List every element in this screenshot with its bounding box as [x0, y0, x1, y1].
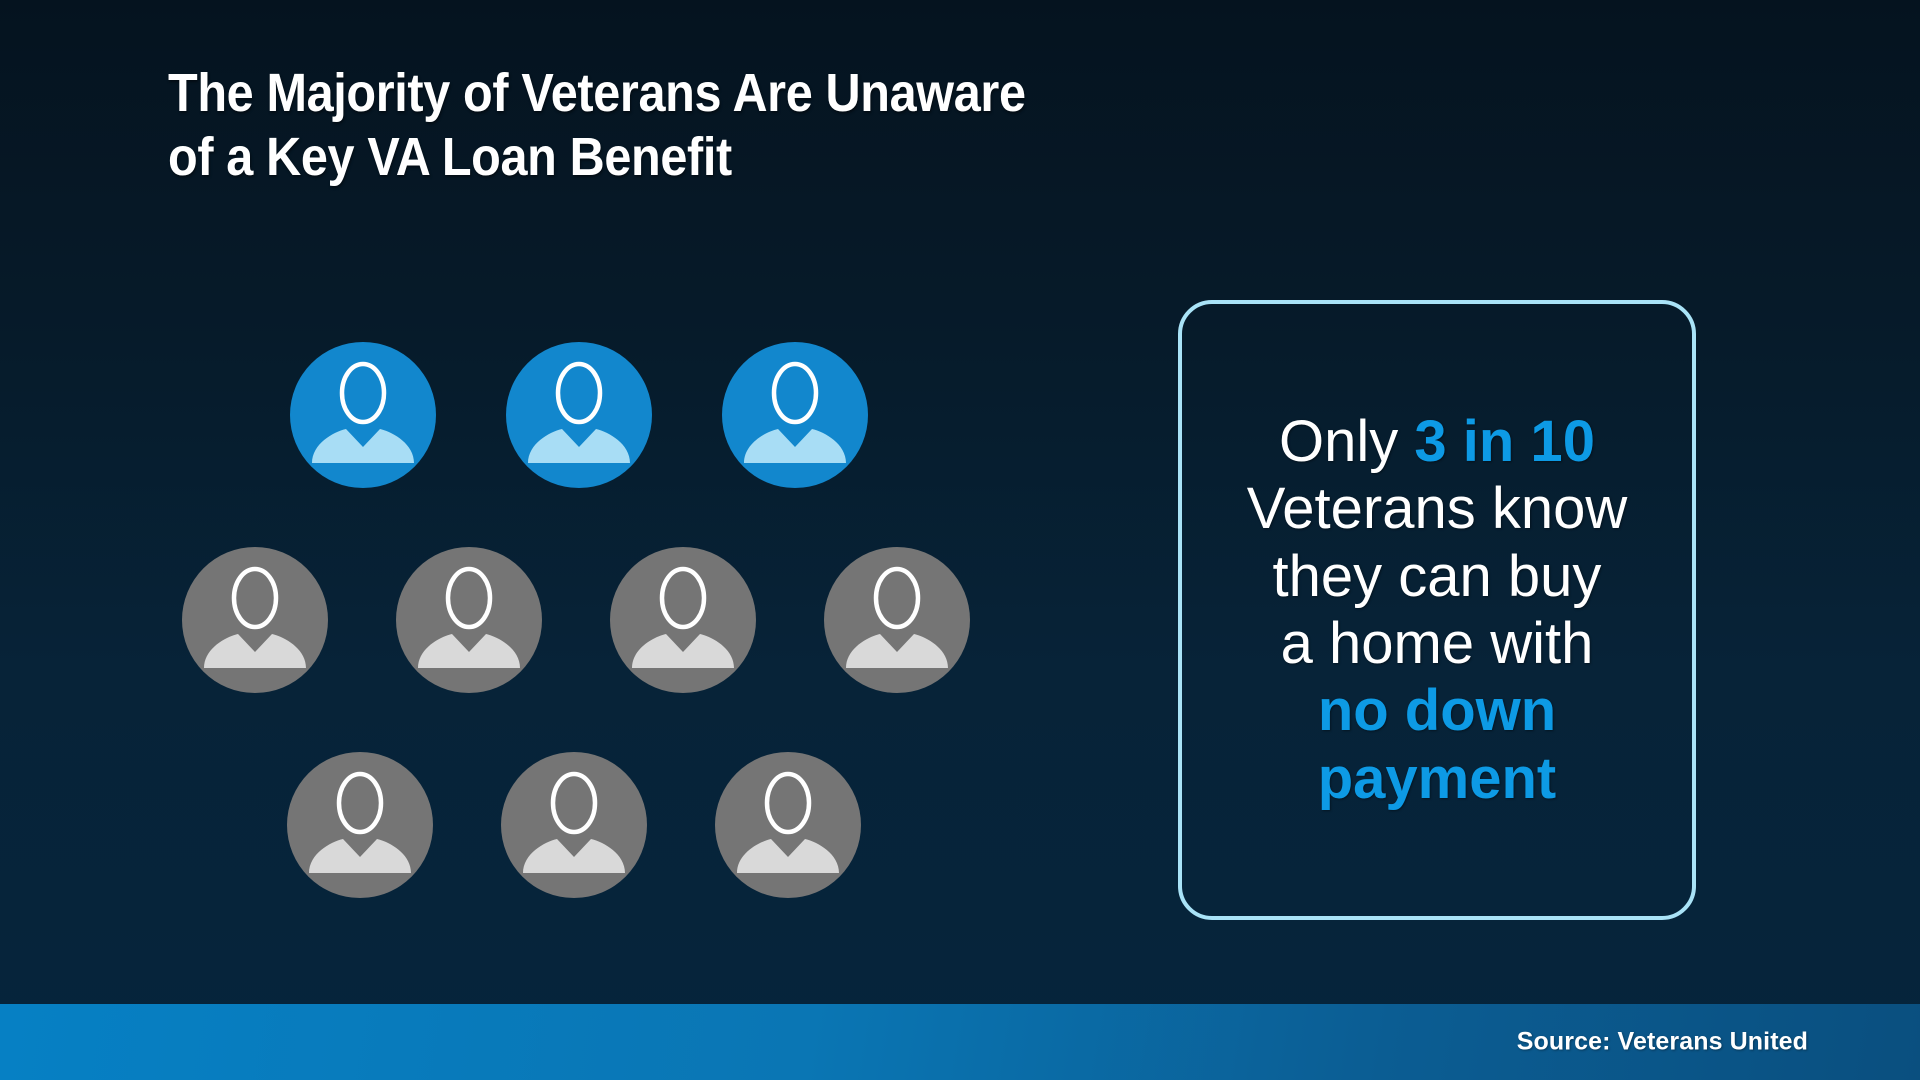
pictogram-chart: [170, 300, 1070, 920]
footer-bar: Source: Veterans United: [0, 1004, 1920, 1080]
person-icon-muted-7: [703, 740, 873, 910]
callout-line-3: they can buy: [1247, 543, 1627, 610]
page-title: The Majority of Veterans Are Unaware of …: [168, 62, 1368, 189]
source-label: Source: Veterans United: [1517, 1028, 1808, 1057]
infographic-slide: The Majority of Veterans Are Unaware of …: [0, 0, 1920, 1080]
callout-line-5: no down: [1247, 677, 1627, 744]
person-icon-muted-6: [489, 740, 659, 910]
pictogram-row-3: [275, 740, 873, 910]
person-icon-muted-1: [170, 535, 340, 705]
pictogram-row-2: [170, 535, 982, 705]
person-icon-highlighted-3: [710, 330, 880, 500]
callout-line-2: Veterans know: [1247, 475, 1627, 542]
pictogram-row-1: [278, 330, 880, 500]
person-icon-muted-4: [812, 535, 982, 705]
callout-line-1: Only 3 in 10: [1247, 408, 1627, 475]
callout-text: Only 3 in 10 Veterans know they can buy …: [1229, 408, 1645, 812]
callout-line-6: payment: [1247, 745, 1627, 812]
callout-ratio-accent: 3 in 10: [1414, 409, 1595, 474]
person-icon-muted-3: [598, 535, 768, 705]
person-icon-muted-5: [275, 740, 445, 910]
title-line-1: The Majority of Veterans Are Unaware: [168, 62, 1248, 126]
callout-line-1-prefix: Only: [1279, 409, 1414, 474]
person-icon-highlighted-1: [278, 330, 448, 500]
callout-line-4: a home with: [1247, 610, 1627, 677]
statistic-callout-box: Only 3 in 10 Veterans know they can buy …: [1178, 300, 1696, 920]
person-icon-muted-2: [384, 535, 554, 705]
person-icon-highlighted-2: [494, 330, 664, 500]
title-line-2: of a Key VA Loan Benefit: [168, 126, 1248, 190]
